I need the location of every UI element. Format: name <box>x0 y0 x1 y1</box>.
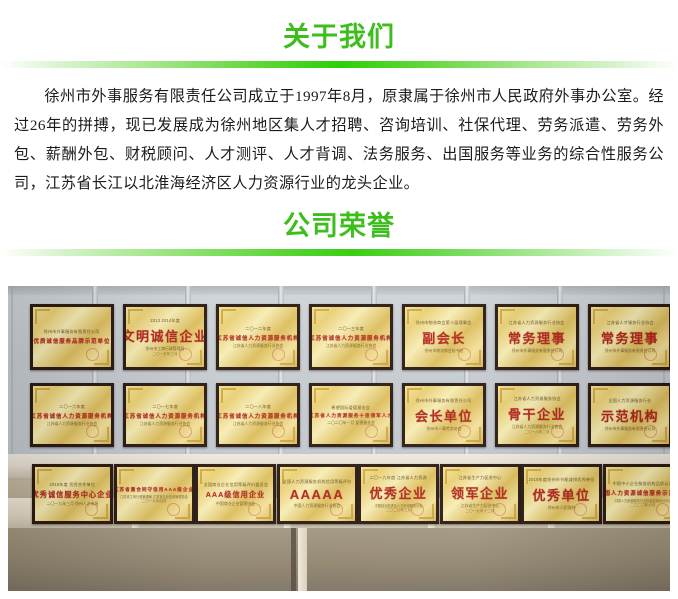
plaque-seal-icon <box>330 503 343 516</box>
plaque-face: 徐州市外事服务有限责任公司会长单位徐州市人事劳务协会 <box>405 386 483 444</box>
plaque-header-text: 二〇一二年度 <box>245 326 271 332</box>
plaque-seal-icon <box>248 503 261 516</box>
award-plaque: 二〇一三年度江苏省诚信人力资源服务机构江苏省人力资源服务行业协会 <box>309 304 393 370</box>
plaque-title-text: 领军企业 <box>451 483 509 502</box>
honor-wall-photo: 徐州市外事服务有限责任公司优质诚信服务品牌示范单位2013 2014年度文明诚信… <box>8 286 670 591</box>
award-plaque: 江苏省人力资源服务行业协会常务理事徐州市外事服务有限责任公司 <box>495 304 579 370</box>
plaque-seal-icon <box>179 348 192 361</box>
plaque-face: 江苏省人力资源服务行业协会常务理事徐州市外事服务有限责任公司 <box>498 307 576 367</box>
plaque-seal-icon <box>272 425 285 438</box>
award-plaque: 中国中小企业服务机构品质认证全国人力资源诚信服务示范单位中国人力资源服务行业协会… <box>603 464 671 524</box>
plaque-date-text: 二〇一八年二月 <box>524 430 549 435</box>
award-plaque: 2013 2014年度文明诚信企业徐州市工商行政管理局二〇一五年三月 <box>123 304 207 370</box>
award-plaque: 二〇一九年度 江苏省人力资源优秀企业中国就业促进会人力资源服务分会二〇二〇年三月 <box>358 464 439 524</box>
award-plaque: 全国人力资源服务机构信用等级评价AAAAA中国人力资源服务行业协会 <box>277 464 358 524</box>
plaque-header-text: 徐州市物流商会第十届理事会 <box>416 320 472 326</box>
plaque-seal-icon <box>493 503 506 516</box>
plaque-face: 希望国际爱德基金会江苏省人力资源服务十佳领军人才二〇二〇年一月 爱德基金会 <box>312 386 390 444</box>
plaque-seal-icon <box>179 425 192 438</box>
plaque-seal-icon <box>644 425 657 438</box>
plaque-title-text: 示范机构 <box>601 406 659 425</box>
plaque-header-text: 二〇一七年度 <box>152 404 178 410</box>
award-plaque: 二〇一八年度江苏省诚信人力资源服务机构江苏省人力资源服务行业协会 <box>216 383 300 447</box>
plaque-header-text: 2018年度 优秀合作单位 <box>50 482 96 488</box>
plaque-title-text: 江苏省诚信人力资源服务机构 <box>126 412 204 420</box>
plaque-face: 2019年度徐州市节能减排优秀单位优秀单位徐州市人民政府 <box>524 467 599 521</box>
plaque-date-text: 二〇二〇年三月 <box>386 508 411 513</box>
award-plaque: 二〇一七年度江苏省诚信人力资源服务机构江苏省人力资源服务行业协会 <box>123 383 207 447</box>
plaque-title-text: AAA级信用企业 <box>206 490 266 500</box>
plaque-header-text: 二〇一三年度 <box>338 326 364 332</box>
award-plaque: 希望国际爱德基金会江苏省人力资源服务十佳领军人才二〇二〇年一月 爱德基金会 <box>309 383 393 447</box>
award-plaque: 徐州市外事服务有限责任公司会长单位徐州市人事劳务协会 <box>402 383 486 447</box>
plaque-issuer-text: 徐州市人事劳务协会 <box>426 426 461 432</box>
plaque-face: 二〇一六年度江苏省诚信人力资源服务机构江苏省人力资源服务行业协会 <box>33 386 111 444</box>
heading-divider-honor <box>0 249 678 256</box>
plaque-title-text: 优秀诚信服务中心企业 <box>35 490 110 500</box>
plaque-face: 二〇一九年度 江苏省人力资源优秀企业中国就业促进会人力资源服务分会二〇二〇年三月 <box>361 467 436 521</box>
plaque-date-text: 二〇一九年四月 <box>141 499 166 504</box>
page-title-about: 关于我们 <box>0 0 678 52</box>
award-plaque: 全国人力资源服务行业示范机构徐州市外事服务有限责任公司 <box>588 383 670 447</box>
plaque-header-text: 二〇一九年度 江苏省人力资源 <box>370 475 427 481</box>
plaque-date-text: 二〇一九年十二月 <box>466 509 495 514</box>
wall-seam <box>11 286 13 458</box>
plaque-face: 江苏省重合同守信用AAA级企业江苏省工商行政管理局 江苏省企业信用管理协会二〇一… <box>117 467 192 521</box>
cabinet-gap <box>291 528 296 591</box>
plaque-face: 徐州市外事服务有限责任公司优质诚信服务品牌示范单位 <box>33 307 111 367</box>
plaque-title-text: 常务理事 <box>508 328 566 347</box>
plaque-title-text: 江苏省诚信人力资源服务机构 <box>219 412 297 420</box>
page-title-honor: 公司荣誉 <box>0 198 678 241</box>
plaque-face: 江苏省生产力促进中心领军企业江苏省生产力促进中心二〇一九年十二月 <box>443 467 518 521</box>
award-plaque: 2018年度 优秀合作单位优秀诚信服务中心企业二〇一九年三月 徐州人才市场 <box>32 464 113 524</box>
plaque-title-text: 优质诚信服务品牌示范单位 <box>34 337 111 345</box>
plaque-header-text: 希望国际爱德基金会 <box>332 405 371 411</box>
award-plaque: 徐州市物流商会第十届理事会副会长徐州市物流商会秘书处 <box>402 304 486 370</box>
plaque-seal-icon <box>85 503 98 516</box>
plaque-seal-icon <box>551 348 564 361</box>
plaque-title-text: 常务理事 <box>601 328 659 347</box>
plaque-seal-icon <box>86 425 99 438</box>
plaque-title-text: AAAAA <box>290 487 344 502</box>
plaque-title-text: 江苏省诚信人力资源服务机构 <box>33 412 111 420</box>
plaque-face: 徐州市物流商会第十届理事会副会长徐州市物流商会秘书处 <box>405 307 483 367</box>
plaque-header-text: 徐州市外事服务有限责任公司 <box>44 329 100 335</box>
plaque-face: 全国人力资源服务机构信用等级评价AAAAA中国人力资源服务行业协会 <box>280 467 355 521</box>
plaque-title-text: 优秀企业 <box>369 483 427 502</box>
plaque-seal-icon <box>458 348 471 361</box>
plaque-title-text: 江苏省重合同守信用AAA级企业 <box>117 487 192 493</box>
plaque-title-text: 优秀单位 <box>532 485 590 504</box>
plaque-seal-icon <box>551 425 564 438</box>
award-plaque: 徐州市外事服务有限责任公司优质诚信服务品牌示范单位 <box>30 304 114 370</box>
plaque-issuer-text: 徐州市人民政府 <box>548 505 575 511</box>
award-plaque: 江苏省生产力促进中心领军企业江苏省生产力促进中心二〇一九年十二月 <box>440 464 521 524</box>
award-plaque: 江苏省人才服务行业协会常务理事徐州市外事服务有限责任公司 <box>588 304 670 370</box>
plaque-header-text: 江苏省人力资源服务行业协会 <box>509 320 565 326</box>
plaque-face: 二〇一三年度江苏省诚信人力资源服务机构江苏省人力资源服务行业协会 <box>312 307 390 367</box>
plaque-seal-icon <box>458 425 471 438</box>
plaque-face: 二〇一七年度江苏省诚信人力资源服务机构江苏省人力资源服务行业协会 <box>126 386 204 444</box>
plaque-header-text: 徐州市外事服务有限责任公司 <box>416 398 472 404</box>
plaque-face: 2013 2014年度文明诚信企业徐州市工商行政管理局二〇一五年三月 <box>126 307 204 367</box>
plaque-date-text: 二〇一五年三月 <box>152 352 177 357</box>
page-root: 关于我们 徐州市外事服务有限责任公司成立于1997年8月，原隶属于徐州市人民政府… <box>0 0 678 599</box>
plaque-title-text: 会长单位 <box>415 406 473 425</box>
wall-top-strip <box>8 286 670 295</box>
plaque-title-text: 全国人力资源诚信服务示范单位 <box>606 489 671 497</box>
plaque-seal-icon <box>365 348 378 361</box>
plaque-header-text: 2019年度徐州市节能减排优秀单位 <box>529 477 595 483</box>
plaque-seal-icon <box>644 348 657 361</box>
plaque-header-text: 2013 2014年度 <box>150 318 180 324</box>
cabinet-lower <box>8 528 670 591</box>
plaque-face: 2018年度 优秀合作单位优秀诚信服务中心企业二〇一九年三月 徐州人才市场 <box>35 467 110 521</box>
plaque-face: 中国中小企业服务机构品质认证全国人力资源诚信服务示范单位中国人力资源服务行业协会… <box>606 467 671 521</box>
award-plaque: 2019年度徐州市节能减排优秀单位优秀单位徐州市人民政府 <box>521 464 602 524</box>
plaque-header-text: 江苏省人力资源服务协会 <box>513 396 560 402</box>
plaque-header-text: 全国人力资源服务行业 <box>608 398 651 404</box>
cabinet-post <box>298 528 307 591</box>
plaque-header-text: 江苏省人才服务行业协会 <box>606 320 653 326</box>
plaque-face: 江苏省人力资源服务协会骨干企业江苏省人力资源服务行业协会二〇一八年二月 <box>498 386 576 444</box>
plaque-face: 二〇一八年度江苏省诚信人力资源服务机构江苏省人力资源服务行业协会 <box>219 386 297 444</box>
plaque-header-text: 二〇一六年度 <box>59 404 85 410</box>
plaque-title-text: 江苏省诚信人力资源服务机构 <box>312 334 390 342</box>
plaque-face: 全国人力资源服务行业示范机构徐州市外事服务有限责任公司 <box>591 386 669 444</box>
plaque-header-text: 江苏省生产力促进中心 <box>458 475 501 481</box>
plaque-title-text: 江苏省诚信人力资源服务机构 <box>219 334 297 342</box>
plaque-face: 二〇一二年度江苏省诚信人力资源服务机构江苏省人力资源服务行业协会 <box>219 307 297 367</box>
award-plaque: 二〇一六年度江苏省诚信人力资源服务机构江苏省人力资源服务行业协会 <box>30 383 114 447</box>
plaque-issuer-text: 二〇二〇年一月 爱德基金会 <box>327 420 375 426</box>
plaque-seal-icon <box>656 503 669 516</box>
plaque-header-text: 全国人力资源服务机构信用等级评价 <box>283 479 352 485</box>
heading-divider-about <box>0 61 678 68</box>
plaque-face: 江苏省人才服务行业协会常务理事徐州市外事服务有限责任公司 <box>591 307 669 367</box>
plaque-seal-icon <box>167 503 180 516</box>
award-plaque: 全国商业企业信用等级评价委员会AAA级信用企业中国商业企业管理协会 <box>195 464 276 524</box>
award-plaque: 二〇一二年度江苏省诚信人力资源服务机构江苏省人力资源服务行业协会 <box>216 304 300 370</box>
plaque-seal-icon <box>574 503 587 516</box>
plaque-title-text: 骨干企业 <box>508 404 566 423</box>
plaque-title-text: 副会长 <box>422 328 466 347</box>
award-plaque: 江苏省重合同守信用AAA级企业江苏省工商行政管理局 江苏省企业信用管理协会二〇一… <box>114 464 195 524</box>
plaque-header-text: 全国商业企业信用等级评价委员会 <box>203 482 268 488</box>
plaque-seal-icon <box>365 425 378 438</box>
plaque-seal-icon <box>272 348 285 361</box>
plaque-title-text: 文明诚信企业 <box>126 326 204 345</box>
plaque-face: 全国商业企业信用等级评价委员会AAA级信用企业中国商业企业管理协会 <box>198 467 273 521</box>
plaque-header-text: 二〇一八年度 <box>245 404 271 410</box>
plaque-date-text: 二〇二〇年六月 <box>630 503 655 508</box>
plaque-title-text: 江苏省人力资源服务十佳领军人才 <box>312 413 390 419</box>
about-body-text: 徐州市外事服务有限责任公司成立于1997年8月，原隶属于徐州市人民政府外事办公室… <box>14 82 664 198</box>
plaque-header-text: 中国中小企业服务机构品质认证 <box>613 481 670 487</box>
plaque-seal-icon <box>86 348 99 361</box>
award-plaque: 江苏省人力资源服务协会骨干企业江苏省人力资源服务行业协会二〇一八年二月 <box>495 383 579 447</box>
plaque-seal-icon <box>411 503 424 516</box>
honor-wall-photo-content: 徐州市外事服务有限责任公司优质诚信服务品牌示范单位2013 2014年度文明诚信… <box>8 286 670 591</box>
